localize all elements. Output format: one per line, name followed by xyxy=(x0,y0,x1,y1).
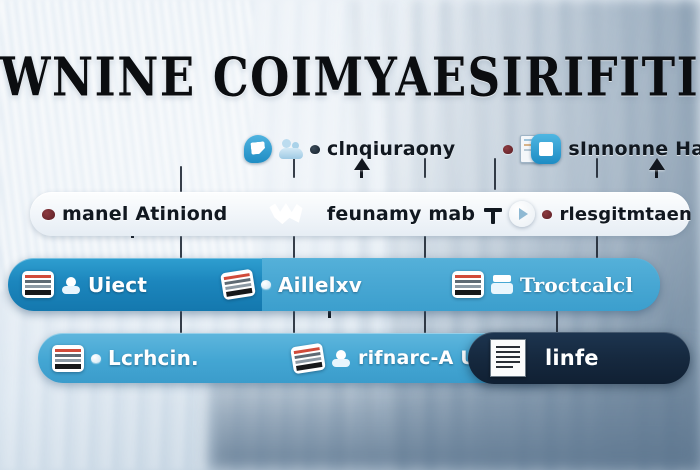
node-label: rlesgitmtaen xyxy=(559,204,692,225)
connector-line xyxy=(293,236,295,258)
device-icon xyxy=(452,271,484,298)
node-label: sInnonne Hame xyxy=(568,138,700,160)
device-icon xyxy=(52,345,84,372)
printer-icon xyxy=(491,275,513,295)
node-rlesgitmtaen[interactable]: rlesgitmtaen xyxy=(484,201,692,227)
app-square-icon xyxy=(531,134,561,164)
node-label: feunamy mab xyxy=(327,203,475,225)
spray-icon xyxy=(331,348,351,368)
diagram-canvas: WNINE COIMYAESIRIFITINL clnqiuraony xyxy=(0,0,700,470)
connector-line xyxy=(180,166,182,192)
node-aillelx[interactable]: Aillelxv xyxy=(222,271,452,298)
node-inquiry[interactable]: clnqiuraony xyxy=(244,135,455,163)
bullet-icon xyxy=(261,280,271,289)
connector-line xyxy=(180,311,182,333)
diagram-row-2: manel Atiniond feunamy mab rlesgitmtaen xyxy=(42,192,692,236)
node-feunamy[interactable]: feunamy mab xyxy=(268,202,485,226)
device-tilt-icon xyxy=(290,342,326,374)
node-lcrhcin[interactable]: Lcrhcin. xyxy=(52,345,292,372)
node-label: linfe xyxy=(545,346,599,370)
spray-icon xyxy=(61,275,81,295)
t-glyph-icon xyxy=(484,204,502,224)
play-icon xyxy=(509,201,535,227)
node-manel[interactable]: manel Atiniond xyxy=(42,203,268,225)
connector-line xyxy=(180,236,182,258)
node-label: Aillelxv xyxy=(278,273,362,297)
bullet-icon xyxy=(42,209,55,220)
node-label: Troctcalcl xyxy=(520,273,633,297)
node-label: Uiect xyxy=(88,273,147,297)
connector-line xyxy=(424,311,426,333)
bullet-icon xyxy=(310,145,320,154)
diagram-row-3: Uiect Aillelxv Troctcalcl xyxy=(22,258,662,311)
node-label: clnqiuraony xyxy=(327,138,455,160)
splash-icon xyxy=(268,202,304,226)
document-icon xyxy=(490,339,526,377)
node-label: Lcrhcin. xyxy=(108,346,199,370)
diagram-row-1: clnqiuraony sInnonne Hame xyxy=(244,128,694,170)
node-troctcalcl[interactable]: Troctcalcl xyxy=(452,271,633,298)
bullet-icon xyxy=(503,145,513,154)
connector-line xyxy=(424,236,426,258)
bullet-icon xyxy=(542,210,552,219)
node-uiect[interactable]: Uiect xyxy=(22,271,222,298)
node-summon-home[interactable]: sInnonne Hame xyxy=(503,134,700,164)
chat-bubble-icon xyxy=(244,135,272,163)
people-icon xyxy=(279,138,303,160)
page-title: WNINE COIMYAESIRIFITINL xyxy=(0,46,700,109)
connector-line xyxy=(293,311,295,333)
node-linfe[interactable]: linfe xyxy=(490,339,599,377)
bullet-icon xyxy=(91,354,101,363)
device-tilt-icon xyxy=(220,269,256,301)
node-label: manel Atiniond xyxy=(62,203,227,225)
connector-line xyxy=(596,236,598,258)
device-icon xyxy=(22,271,54,298)
connector-line xyxy=(556,311,558,333)
diagram-row-4b: linfe xyxy=(490,332,690,384)
